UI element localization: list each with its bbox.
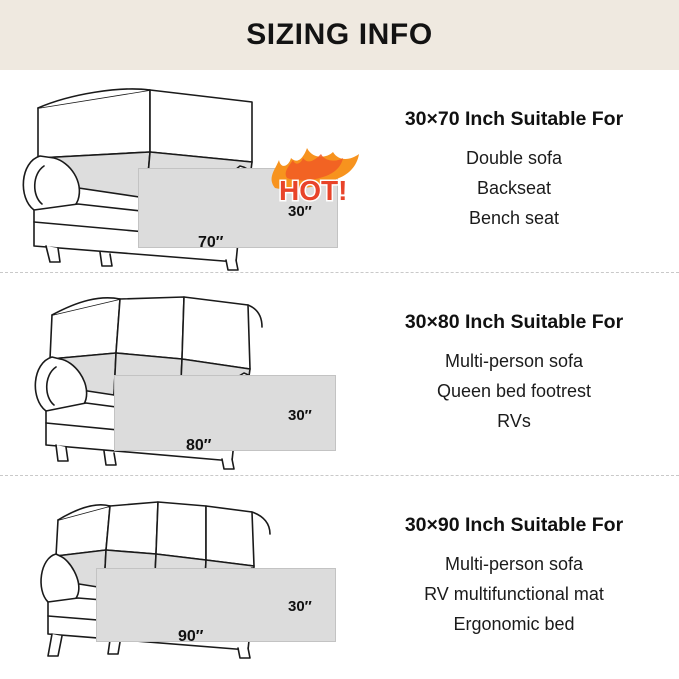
use-list-70: Double sofa Backseat Bench seat <box>466 145 562 231</box>
use-item: Ergonomic bed <box>453 611 574 637</box>
size-info-text-70: 30×70 Inch Suitable For Double sofa Back… <box>349 70 679 273</box>
size-info-text-90: 30×90 Inch Suitable For Multi-person sof… <box>349 476 679 679</box>
size-title-90: 30×90 Inch Suitable For <box>405 514 623 537</box>
use-item: Multi-person sofa <box>445 551 583 577</box>
use-item: Double sofa <box>466 145 562 171</box>
mat-height-label-80: 30″ <box>288 407 312 424</box>
hot-badge-text: HOT! <box>279 175 347 206</box>
size-info-text-80: 30×80 Inch Suitable For Multi-person sof… <box>349 273 679 476</box>
sizing-info-page: SIZING INFO <box>0 0 679 679</box>
size-title-70: 30×70 Inch Suitable For <box>405 108 623 131</box>
use-item: Multi-person sofa <box>445 348 583 374</box>
mat-width-label-80: 80″ <box>186 437 211 455</box>
use-item: RV multifunctional mat <box>424 581 604 607</box>
size-title-80: 30×80 Inch Suitable For <box>405 311 623 334</box>
use-item: Queen bed footrest <box>437 378 591 404</box>
use-item: RVs <box>497 408 531 434</box>
mat-width-label-70: 70″ <box>198 234 223 252</box>
size-row-30x90: 90″ 30″ 30×90 Inch Suitable For Multi-pe… <box>0 476 679 679</box>
use-list-80: Multi-person sofa Queen bed footrest RVs <box>437 348 591 434</box>
use-item: Bench seat <box>469 205 559 231</box>
mat-width-label-90: 90″ <box>178 628 203 646</box>
page-header: SIZING INFO <box>0 0 679 70</box>
use-list-90: Multi-person sofa RV multifunctional mat… <box>424 551 604 637</box>
use-item: Backseat <box>477 175 551 201</box>
size-row-30x70: 70″ 30″ HOT! 30×70 Inch Suitable For Dou… <box>0 70 679 273</box>
mat-height-label-90: 30″ <box>288 598 312 615</box>
size-row-30x80: 80″ 30″ 30×80 Inch Suitable For Multi-pe… <box>0 273 679 476</box>
page-title: SIZING INFO <box>246 18 433 52</box>
